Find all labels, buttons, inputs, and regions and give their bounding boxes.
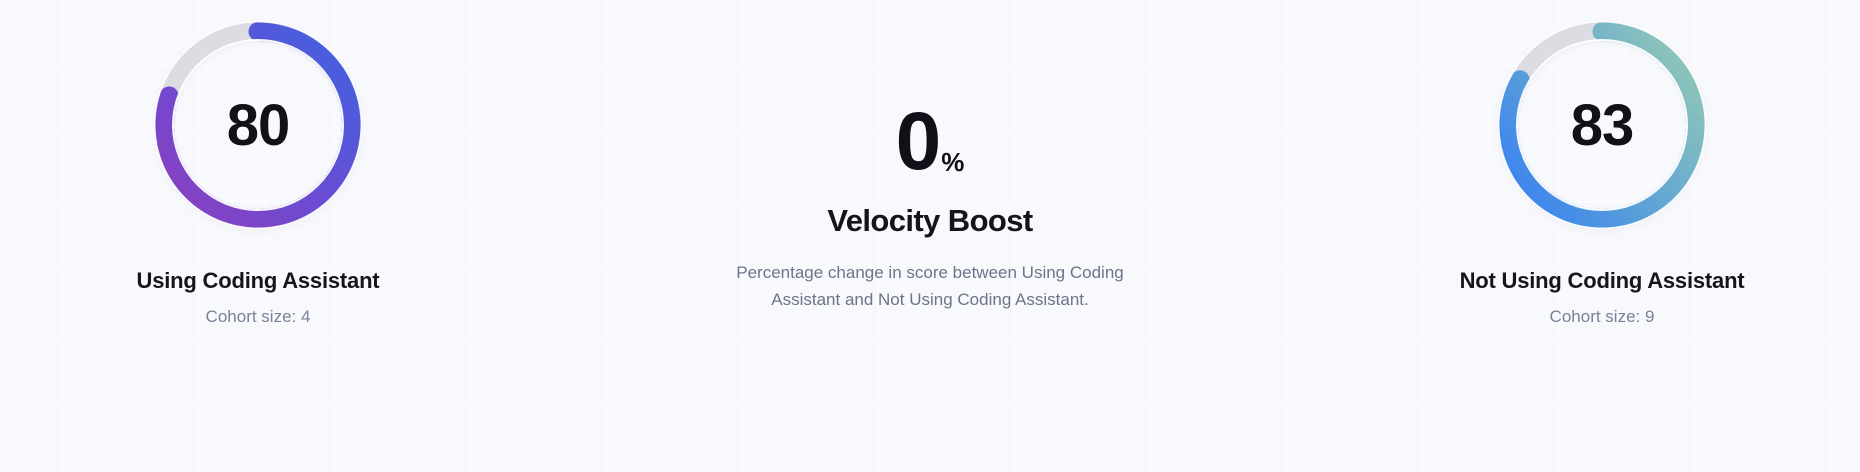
gauge-value-right: 83 xyxy=(1499,22,1705,228)
delta-percent-unit: % xyxy=(941,149,964,175)
gauge-label-left: Using Coding Assistant xyxy=(137,268,380,294)
gauge-cohort-size-left: Cohort size: 4 xyxy=(206,307,311,327)
delta-description: Percentage change in score between Using… xyxy=(705,260,1155,313)
delta-value-row: 0 % xyxy=(896,104,965,179)
delta-number: 0 xyxy=(896,104,939,179)
delta-title: Velocity Boost xyxy=(827,203,1032,239)
velocity-boost-summary: 0 % Velocity Boost Percentage change in … xyxy=(650,22,1210,313)
donut-gauge-right[interactable]: 83 xyxy=(1499,22,1705,228)
gauge-cohort-size-right: Cohort size: 9 xyxy=(1550,307,1655,327)
gauge-label-right: Not Using Coding Assistant xyxy=(1460,268,1745,294)
gauge-card-not-using-coding-assistant: 83 Not Using Coding Assistant Cohort siz… xyxy=(1392,22,1812,327)
gauge-value-left: 80 xyxy=(155,22,361,228)
gauge-card-using-coding-assistant: 80 Using Coding Assistant Cohort size: 4 xyxy=(48,22,468,327)
cohort-comparison-panel: 80 Using Coding Assistant Cohort size: 4… xyxy=(0,0,1860,472)
donut-gauge-left[interactable]: 80 xyxy=(155,22,361,228)
